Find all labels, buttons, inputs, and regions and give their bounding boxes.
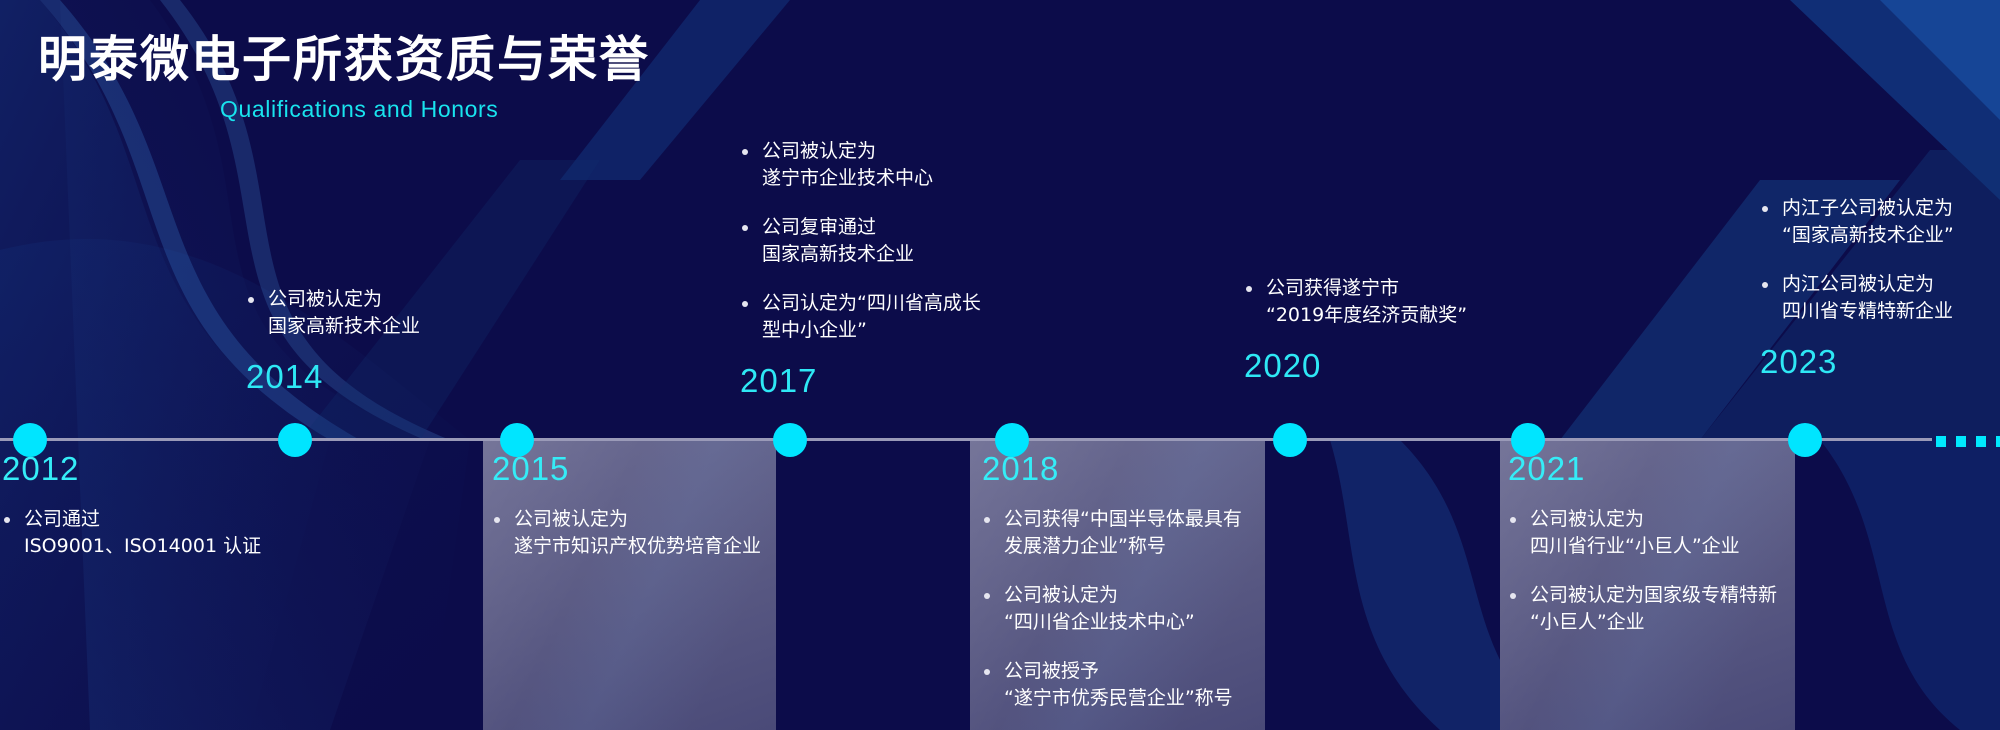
year-label-2023: 2023 bbox=[1760, 345, 2000, 378]
achievement-list-2014: 公司被认定为 国家高新技术企业 bbox=[246, 286, 606, 340]
year-label-2017: 2017 bbox=[740, 364, 1100, 397]
achievement-item: 公司认定为“四川省高成长 型中小企业” bbox=[740, 290, 1100, 344]
timeline-infographic: 明泰微电子所获资质与荣誉 Qualifications and Honors 2… bbox=[0, 0, 2000, 730]
page-subtitle: Qualifications and Honors bbox=[220, 96, 650, 123]
year-label-2014: 2014 bbox=[246, 360, 606, 393]
timeline-entry-2017: 公司被认定为 遂宁市企业技术中心公司复审通过 国家高新技术企业公司认定为“四川省… bbox=[740, 138, 1100, 397]
achievement-item: 公司被认定为 四川省行业“小巨人”企业 bbox=[1508, 506, 1808, 560]
achievement-item: 公司复审通过 国家高新技术企业 bbox=[740, 214, 1100, 268]
timeline-node-dot-2012[interactable] bbox=[13, 423, 47, 457]
achievement-item: 公司被认定为 “四川省企业技术中心” bbox=[982, 582, 1272, 636]
timeline-entry-2023: 内江子公司被认定为 “国家高新技术企业”内江公司被认定为 四川省专精特新企业20… bbox=[1760, 195, 2000, 378]
year-label-2020: 2020 bbox=[1244, 349, 1604, 382]
achievement-item: 公司被认定为国家级专精特新 “小巨人”企业 bbox=[1508, 582, 1808, 636]
timeline-entry-2015: 2015公司被认定为 遂宁市知识产权优势培育企业 bbox=[492, 452, 792, 560]
axis-dash bbox=[1956, 436, 1966, 447]
year-label-2021: 2021 bbox=[1508, 452, 1808, 485]
timeline-node-dot-2023[interactable] bbox=[1788, 423, 1822, 457]
achievement-list-2020: 公司获得遂宁市 “2019年度经济贡献奖” bbox=[1244, 275, 1604, 329]
achievement-item: 公司被认定为 遂宁市知识产权优势培育企业 bbox=[492, 506, 792, 560]
axis-dash bbox=[1976, 436, 1986, 447]
year-label-2015: 2015 bbox=[492, 452, 792, 485]
timeline-node-dot-2015[interactable] bbox=[500, 423, 534, 457]
achievement-list-2018: 公司获得“中国半导体最具有 发展潜力企业”称号公司被认定为 “四川省企业技术中心… bbox=[982, 506, 1272, 712]
axis-dash bbox=[1936, 436, 1946, 447]
timeline-entry-2014: 公司被认定为 国家高新技术企业2014 bbox=[246, 286, 606, 393]
year-label-2018: 2018 bbox=[982, 452, 1272, 485]
timeline-node-dot-2018[interactable] bbox=[995, 423, 1029, 457]
achievement-list-2015: 公司被认定为 遂宁市知识产权优势培育企业 bbox=[492, 506, 792, 560]
timeline-entry-2018: 2018公司获得“中国半导体最具有 发展潜力企业”称号公司被认定为 “四川省企业… bbox=[982, 452, 1272, 712]
timeline-entry-2021: 2021公司被认定为 四川省行业“小巨人”企业公司被认定为国家级专精特新 “小巨… bbox=[1508, 452, 1808, 636]
achievement-list-2017: 公司被认定为 遂宁市企业技术中心公司复审通过 国家高新技术企业公司认定为“四川省… bbox=[740, 138, 1100, 344]
timeline-entry-2012: 2012公司通过 ISO9001、ISO14001 认证 bbox=[2, 452, 422, 560]
timeline-node-dot-2017[interactable] bbox=[773, 423, 807, 457]
year-label-2012: 2012 bbox=[2, 452, 422, 485]
timeline-node-dot-2014[interactable] bbox=[278, 423, 312, 457]
timeline-node-dot-2020[interactable] bbox=[1273, 423, 1307, 457]
achievement-item: 公司获得遂宁市 “2019年度经济贡献奖” bbox=[1244, 275, 1604, 329]
achievement-item: 内江子公司被认定为 “国家高新技术企业” bbox=[1760, 195, 2000, 249]
axis-dash bbox=[1996, 436, 2000, 447]
page-header: 明泰微电子所获资质与荣誉 Qualifications and Honors bbox=[38, 32, 650, 123]
achievement-item: 公司被授予 “遂宁市优秀民营企业”称号 bbox=[982, 658, 1272, 712]
achievement-item: 公司被认定为 国家高新技术企业 bbox=[246, 286, 606, 340]
achievement-list-2012: 公司通过 ISO9001、ISO14001 认证 bbox=[2, 506, 422, 560]
page-title: 明泰微电子所获资质与荣誉 bbox=[38, 32, 650, 88]
achievement-item: 内江公司被认定为 四川省专精特新企业 bbox=[1760, 271, 2000, 325]
timeline-axis-dashes bbox=[1936, 436, 2000, 447]
achievement-item: 公司通过 ISO9001、ISO14001 认证 bbox=[2, 506, 422, 560]
achievement-item: 公司被认定为 遂宁市企业技术中心 bbox=[740, 138, 1100, 192]
achievement-list-2021: 公司被认定为 四川省行业“小巨人”企业公司被认定为国家级专精特新 “小巨人”企业 bbox=[1508, 506, 1808, 636]
achievement-item: 公司获得“中国半导体最具有 发展潜力企业”称号 bbox=[982, 506, 1272, 560]
timeline-node-dot-2021[interactable] bbox=[1511, 423, 1545, 457]
timeline-entry-2020: 公司获得遂宁市 “2019年度经济贡献奖”2020 bbox=[1244, 275, 1604, 382]
achievement-list-2023: 内江子公司被认定为 “国家高新技术企业”内江公司被认定为 四川省专精特新企业 bbox=[1760, 195, 2000, 325]
